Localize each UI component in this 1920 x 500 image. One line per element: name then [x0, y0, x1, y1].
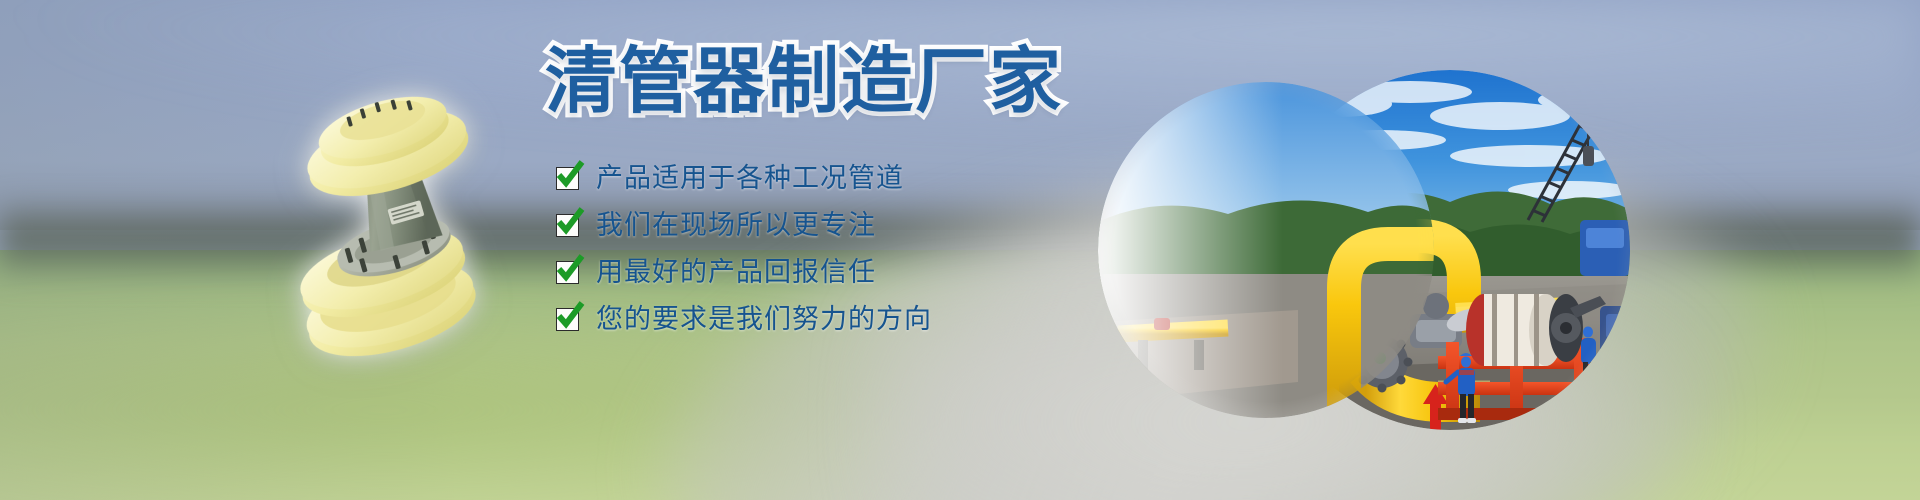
pipeline-site-photo-left-edge	[1098, 82, 1434, 418]
list-item: 产品适用于各种工况管道	[556, 155, 1016, 202]
checkbox-checked-icon	[556, 214, 579, 237]
checkbox-checked-icon	[556, 261, 579, 284]
list-item: 您的要求是我们努力的方向	[556, 296, 1016, 343]
promo-banner: 清管器制造厂家 产品适用于各种工况管道 我们在现场所以更专注	[0, 0, 1920, 500]
list-item: 用最好的产品回报信任	[556, 249, 1016, 296]
feature-list: 产品适用于各种工况管道 我们在现场所以更专注 用最好的产品回报信任	[556, 155, 1016, 343]
list-item-label: 用最好的产品回报信任	[596, 259, 876, 286]
list-item-label: 您的要求是我们努力的方向	[596, 306, 932, 333]
list-item-label: 我们在现场所以更专注	[596, 212, 876, 239]
checkbox-checked-icon	[556, 308, 579, 331]
list-item-label: 产品适用于各种工况管道	[596, 165, 904, 192]
page-title: 清管器制造厂家	[545, 45, 1063, 117]
list-item: 我们在现场所以更专注	[556, 202, 1016, 249]
checkbox-checked-icon	[556, 167, 579, 190]
